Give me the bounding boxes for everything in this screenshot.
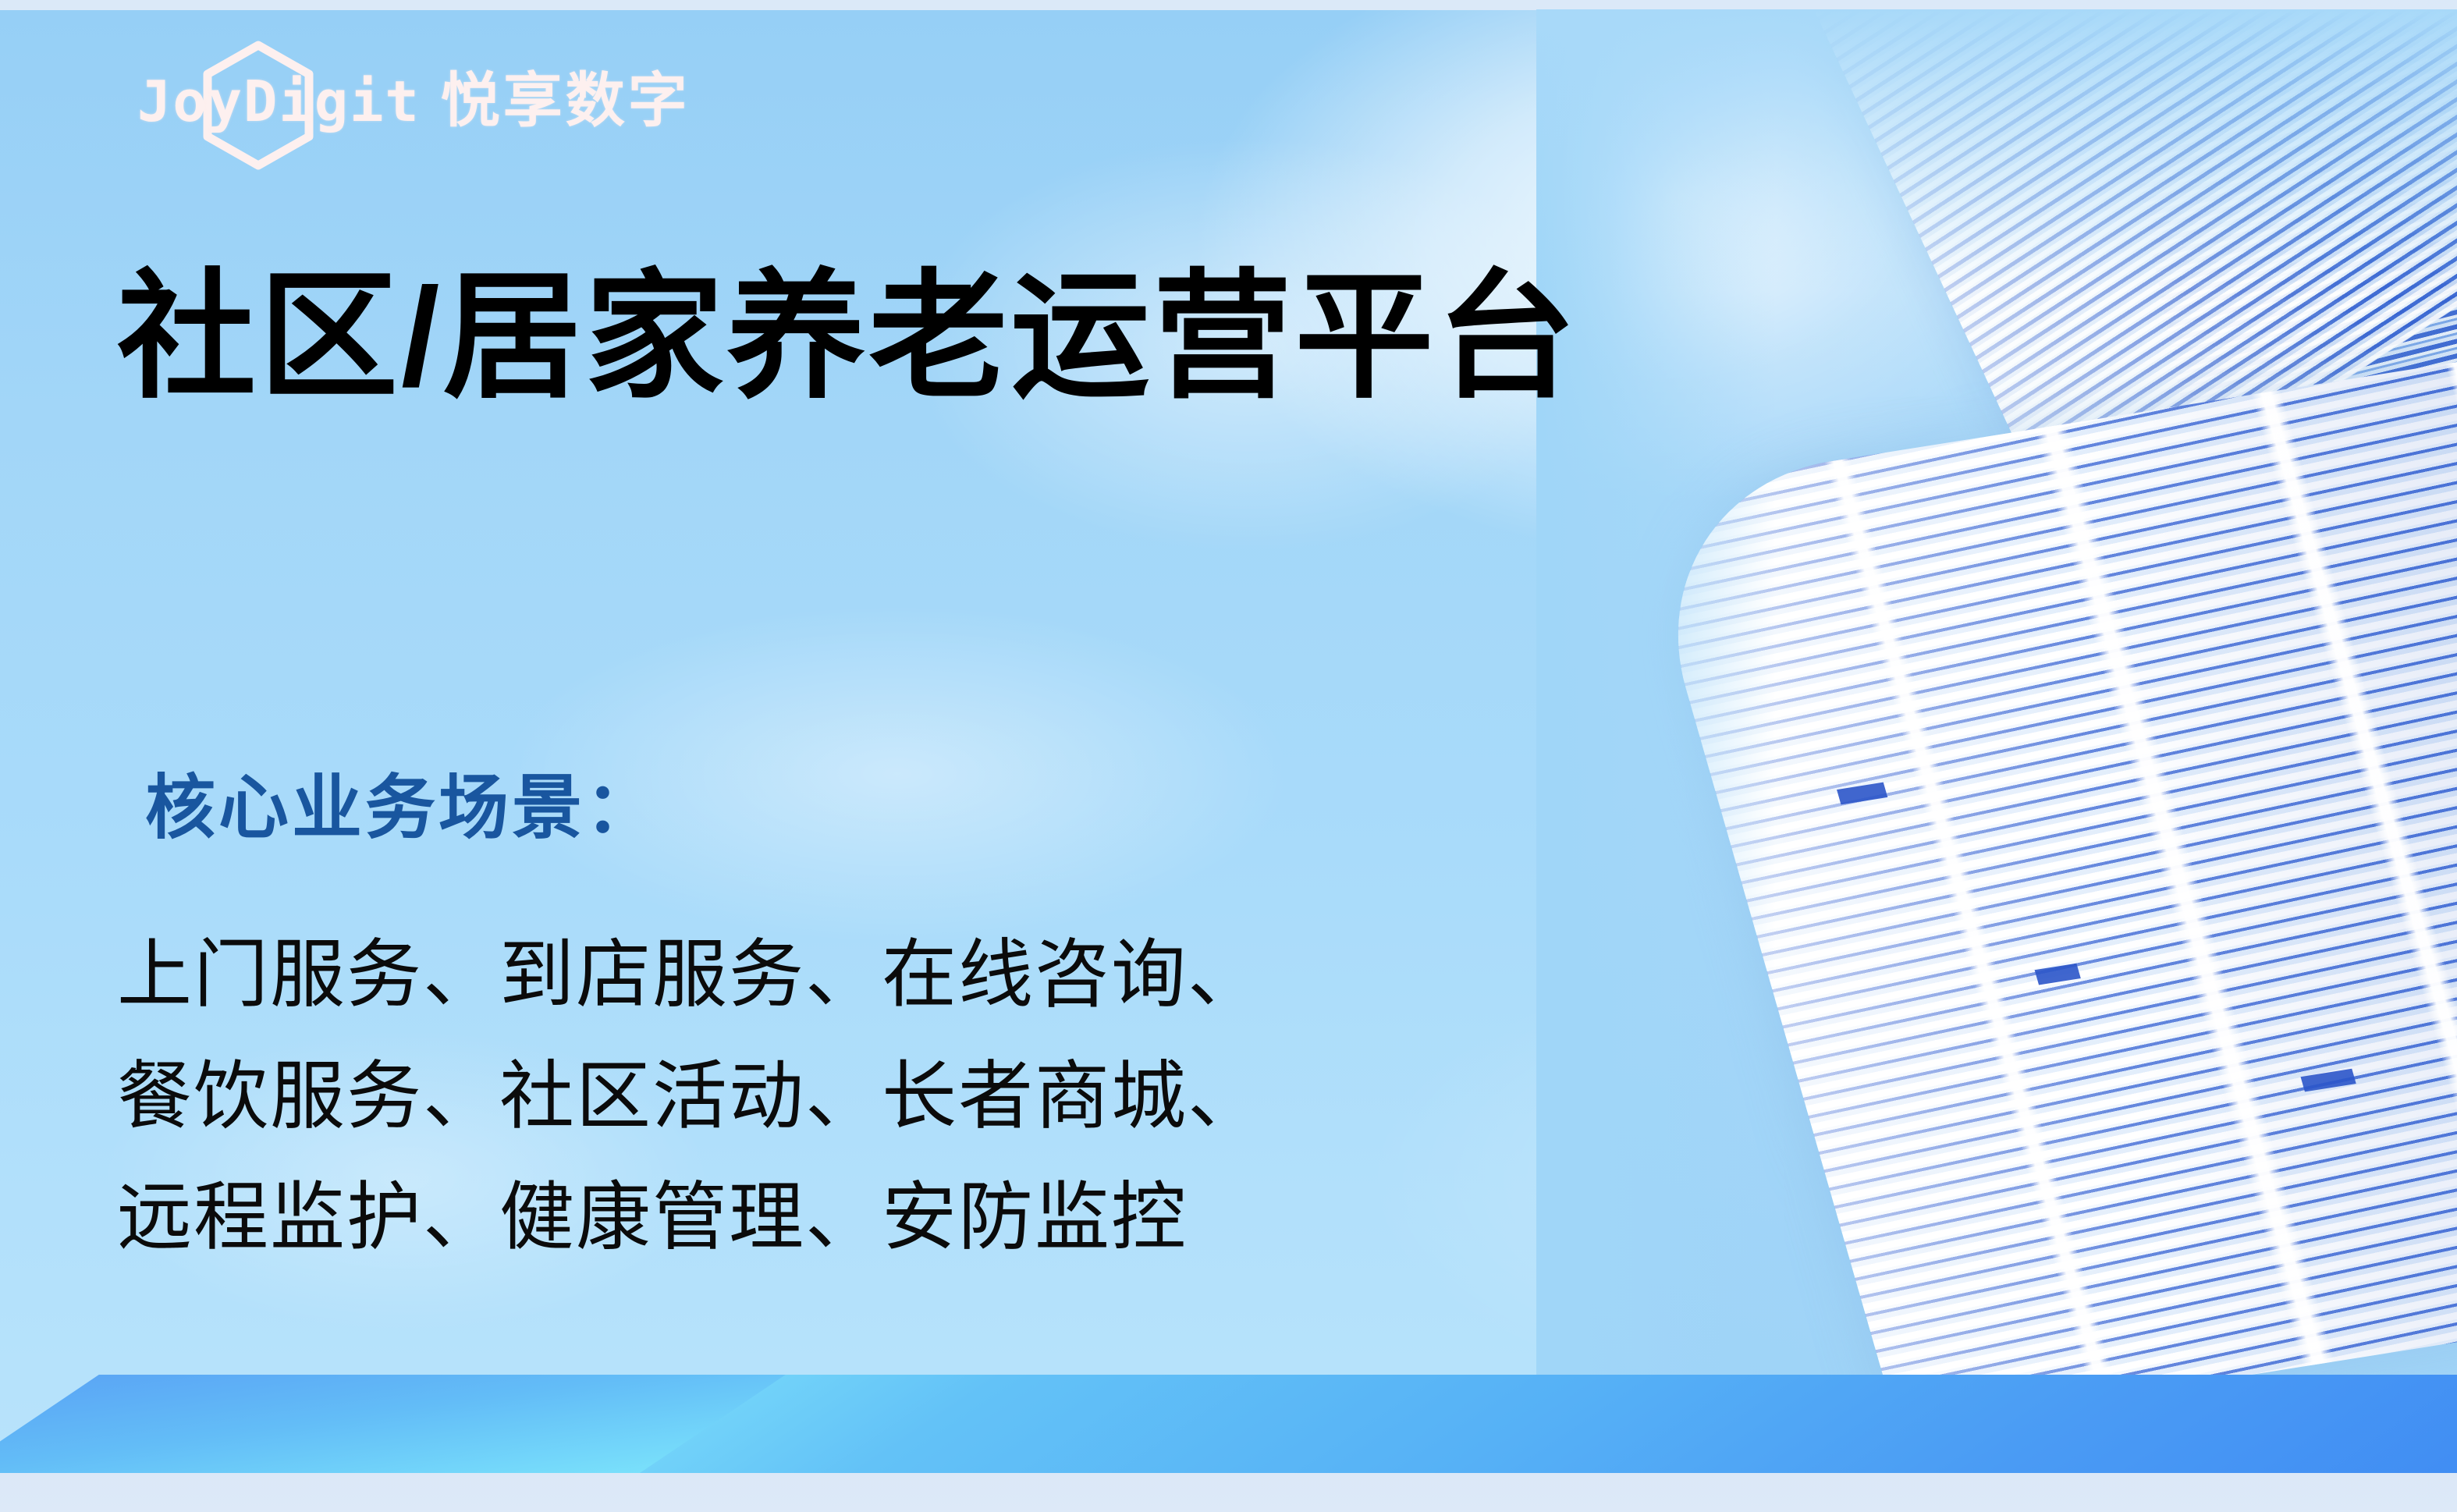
bottom-decorative-band bbox=[0, 1375, 2457, 1473]
presentation-slide: JoyDigit 悦享数字 社区/居家养老运营平台 核心业务场景： 上门服务、到… bbox=[0, 0, 2457, 1512]
scenario-line: 餐饮服务、社区活动、长者商城、 bbox=[117, 1036, 1264, 1158]
logo-chinese-name: 悦享数字 bbox=[441, 72, 691, 131]
scenario-line: 远程监护、健康管理、安防监控 bbox=[117, 1157, 1264, 1279]
bottom-edge-strip bbox=[0, 1470, 2457, 1512]
scenario-line: 上门服务、到店服务、在线咨询、 bbox=[117, 914, 1264, 1036]
page-title: 社区/居家养老运营平台 bbox=[117, 257, 1578, 417]
section-heading: 核心业务场景： bbox=[145, 766, 659, 850]
logo-wordmark: JoyDigit bbox=[137, 73, 421, 130]
top-edge-strip bbox=[0, 0, 2457, 10]
scenario-list: 上门服务、到店服务、在线咨询、 餐饮服务、社区活动、长者商城、 远程监护、健康管… bbox=[117, 914, 1264, 1279]
brand-logo: JoyDigit 悦享数字 bbox=[137, 72, 691, 131]
